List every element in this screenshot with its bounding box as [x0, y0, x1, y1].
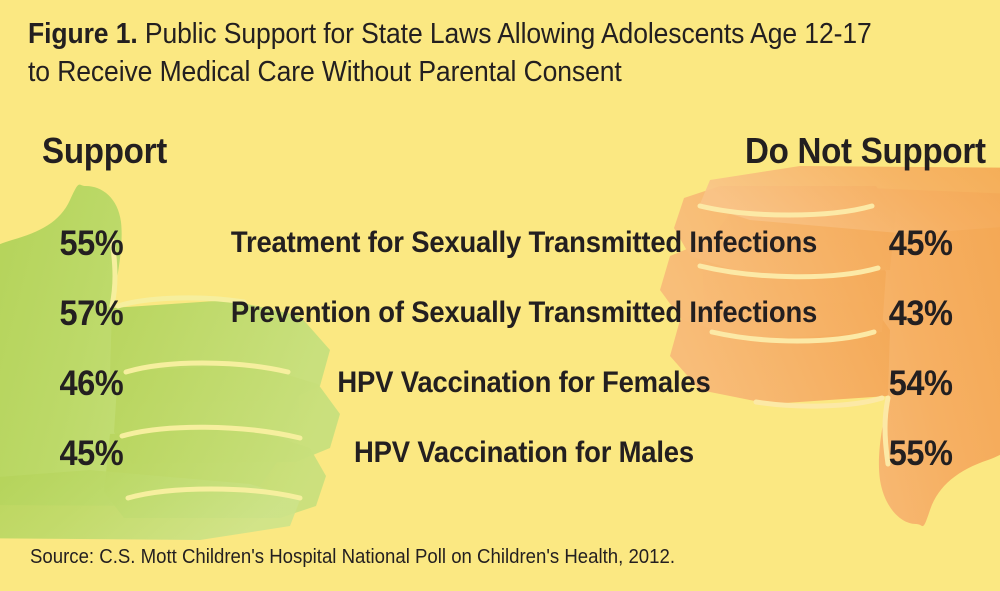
support-percent: 55% [0, 226, 164, 261]
table-row: 55% Treatment for Sexually Transmitted I… [0, 208, 1000, 278]
source-note: Source: C.S. Mott Children's Hospital Na… [30, 547, 675, 567]
figure-container: Figure 1. Public Support for State Laws … [0, 0, 1000, 591]
do-not-support-percent: 54% [872, 366, 991, 401]
support-percent: 45% [0, 436, 164, 471]
do-not-support-percent: 43% [872, 296, 991, 331]
data-rows: 55% Treatment for Sexually Transmitted I… [0, 208, 1000, 488]
column-header-do-not-support: Do Not Support [745, 133, 986, 169]
table-row: 45% HPV Vaccination for Males 55% [0, 418, 1000, 488]
row-label: Treatment for Sexually Transmitted Infec… [200, 228, 847, 258]
do-not-support-percent: 55% [872, 436, 991, 471]
row-label: HPV Vaccination for Females [200, 368, 847, 398]
support-percent: 57% [0, 296, 164, 331]
table-row: 46% HPV Vaccination for Females 54% [0, 348, 1000, 418]
figure-title-text: Public Support for State Laws Allowing A… [28, 18, 872, 88]
column-header-support: Support [42, 133, 167, 169]
row-label: Prevention of Sexually Transmitted Infec… [200, 298, 847, 328]
do-not-support-percent: 45% [872, 226, 991, 261]
figure-title: Figure 1. Public Support for State Laws … [28, 16, 893, 91]
support-percent: 46% [0, 366, 164, 401]
row-label: HPV Vaccination for Males [200, 438, 847, 468]
figure-number: Figure 1. [28, 18, 138, 50]
table-row: 57% Prevention of Sexually Transmitted I… [0, 278, 1000, 348]
